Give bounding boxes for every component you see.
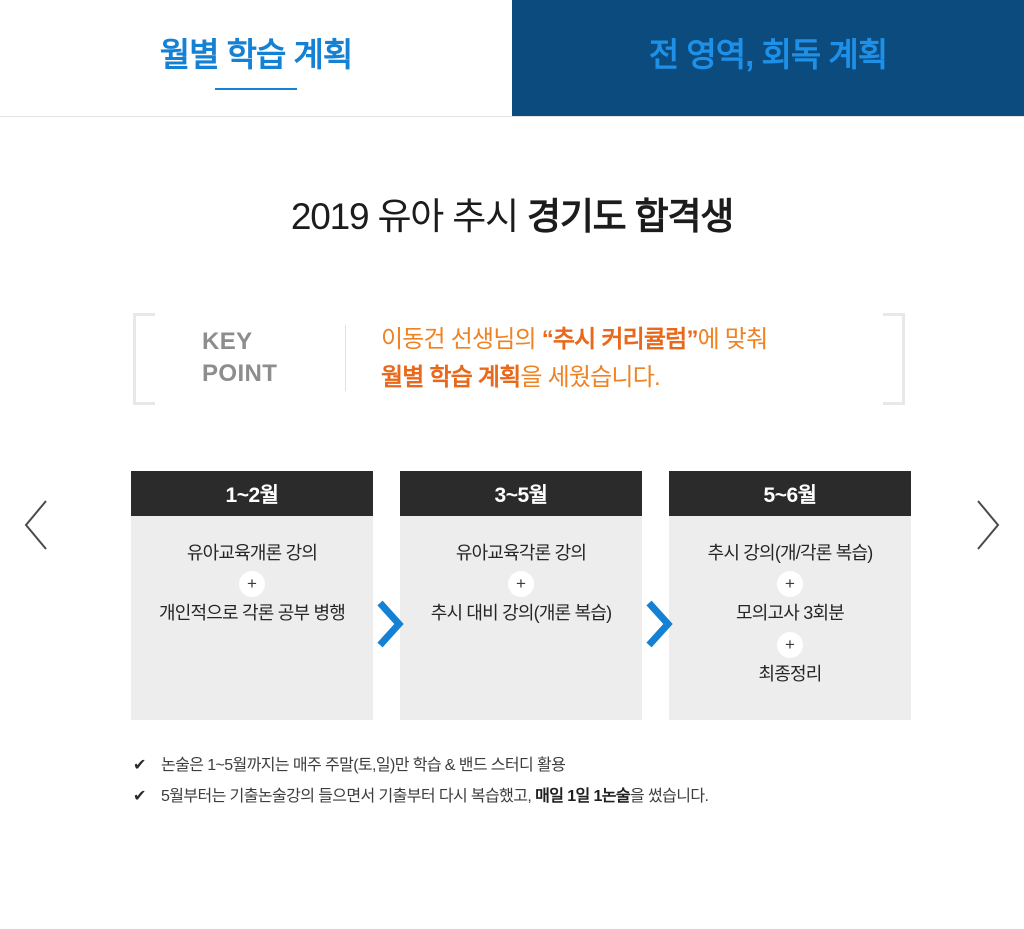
key-point-block: KEY POINT 이동건 선생님의 “추시 커리큘럼”에 맞춰 월별 학습 계… bbox=[133, 313, 905, 405]
plan-card-3[interactable]: 5~6월 추시 강의(개/각론 복습) + 모의고사 3회분 + 최종정리 bbox=[669, 471, 911, 720]
chevron-right-blue-icon bbox=[374, 599, 404, 649]
step-arrow-2 bbox=[643, 599, 673, 649]
key-point-label: KEY POINT bbox=[202, 326, 322, 390]
plan-card-3-period: 5~6월 bbox=[669, 471, 911, 516]
plan-card-3-line-2: 모의고사 3회분 bbox=[736, 602, 844, 625]
tab-monthly-plan-label: 월별 학습 계획 bbox=[160, 38, 353, 71]
chevron-right-blue-icon bbox=[643, 599, 673, 649]
footnote-1-text-a: 논술은 1~5월까지는 매주 주말(토,일)만 학습 & 밴드 스터디 활용 bbox=[161, 757, 565, 774]
plus-icon: + bbox=[777, 571, 803, 597]
tab-bar: 월별 학습 계획 전 영역, 회독 계획 bbox=[0, 0, 1024, 117]
key-point-line1-a: 이동건 선생님의 bbox=[381, 326, 542, 353]
plan-card-1-line-1: 유아교육개론 강의 bbox=[187, 542, 317, 565]
key-point-label-line1: KEY bbox=[202, 326, 322, 358]
page-title-bold: 경기도 합격생 bbox=[527, 196, 733, 237]
tab-full-review-plan[interactable]: 전 영역, 회독 계획 bbox=[512, 0, 1024, 116]
carousel-next-button[interactable] bbox=[970, 495, 1004, 555]
footnote-list: ✔ 논술은 1~5월까지는 매주 주말(토,일)만 학습 & 밴드 스터디 활용… bbox=[133, 755, 933, 816]
plus-icon: + bbox=[239, 571, 265, 597]
plan-card-2[interactable]: 3~5월 유아교육각론 강의 + 추시 대비 강의(개론 복습) bbox=[400, 471, 642, 720]
plan-card-1-line-2: 개인적으로 각론 공부 병행 bbox=[159, 602, 345, 625]
key-point-line2-b: 을 세웠습니다. bbox=[520, 364, 659, 391]
tab-monthly-plan[interactable]: 월별 학습 계획 bbox=[0, 0, 512, 116]
check-icon: ✔ bbox=[133, 786, 161, 808]
plus-icon: + bbox=[777, 632, 803, 658]
key-point-text-line2: 월별 학습 계획을 세웠습니다. bbox=[381, 359, 881, 397]
plan-card-3-line-3: 최종정리 bbox=[758, 663, 821, 686]
key-point-text: 이동건 선생님의 “추시 커리큘럼”에 맞춰 월별 학습 계획을 세웠습니다. bbox=[381, 321, 881, 397]
plan-card-1-body: 유아교육개론 강의 + 개인적으로 각론 공부 병행 bbox=[131, 516, 373, 720]
bracket-left-decoration bbox=[133, 313, 155, 405]
key-point-divider bbox=[345, 325, 346, 391]
tab-full-review-plan-label: 전 영역, 회독 계획 bbox=[649, 38, 887, 71]
footnote-2-text-b: 을 썼습니다. bbox=[630, 788, 708, 805]
plan-card-1[interactable]: 1~2월 유아교육개론 강의 + 개인적으로 각론 공부 병행 bbox=[131, 471, 373, 720]
plan-card-1-period: 1~2월 bbox=[131, 471, 373, 516]
chevron-left-icon bbox=[20, 495, 54, 555]
step-arrow-1 bbox=[374, 599, 404, 649]
page-title: 2019 유아 추시 경기도 합격생 bbox=[0, 186, 1024, 240]
plan-card-2-body: 유아교육각론 강의 + 추시 대비 강의(개론 복습) bbox=[400, 516, 642, 720]
footnote-1-text: 논술은 1~5월까지는 매주 주말(토,일)만 학습 & 밴드 스터디 활용 bbox=[161, 755, 565, 777]
plan-card-2-line-1: 유아교육각론 강의 bbox=[456, 542, 586, 565]
plan-card-2-line-2: 추시 대비 강의(개론 복습) bbox=[431, 602, 612, 625]
page-title-light: 2019 유아 추시 bbox=[291, 196, 527, 237]
key-point-line2-highlight: 월별 학습 계획 bbox=[381, 364, 520, 391]
bracket-right-decoration bbox=[883, 313, 905, 405]
plan-card-3-line-1: 추시 강의(개/각론 복습) bbox=[708, 542, 873, 565]
page-root: 월별 학습 계획 전 영역, 회독 계획 2019 유아 추시 경기도 합격생 … bbox=[0, 0, 1024, 929]
study-plan-cards: 1~2월 유아교육개론 강의 + 개인적으로 각론 공부 병행 3~5월 유아교… bbox=[131, 471, 911, 721]
key-point-text-line1: 이동건 선생님의 “추시 커리큘럼”에 맞춰 bbox=[381, 321, 881, 359]
footnote-item: ✔ 5월부터는 기출논술강의 들으면서 기출부터 다시 복습했고, 매일 1일 … bbox=[133, 786, 933, 808]
footnote-2-text: 5월부터는 기출논술강의 들으면서 기출부터 다시 복습했고, 매일 1일 1논… bbox=[161, 786, 708, 808]
key-point-line1-c: 에 맞춰 bbox=[698, 326, 768, 353]
footnote-2-highlight: 매일 1일 1논술 bbox=[535, 788, 630, 805]
plan-card-2-period: 3~5월 bbox=[400, 471, 642, 516]
carousel-prev-button[interactable] bbox=[20, 495, 54, 555]
footnote-2-text-a: 5월부터는 기출논술강의 들으면서 기출부터 다시 복습했고, bbox=[161, 788, 535, 805]
plan-card-3-body: 추시 강의(개/각론 복습) + 모의고사 3회분 + 최종정리 bbox=[669, 516, 911, 720]
chevron-right-icon bbox=[970, 495, 1004, 555]
active-tab-underline bbox=[215, 88, 297, 90]
key-point-label-line2: POINT bbox=[202, 358, 322, 390]
plus-icon: + bbox=[508, 571, 534, 597]
check-icon: ✔ bbox=[133, 755, 161, 777]
footnote-item: ✔ 논술은 1~5월까지는 매주 주말(토,일)만 학습 & 밴드 스터디 활용 bbox=[133, 755, 933, 777]
key-point-line1-highlight: “추시 커리큘럼” bbox=[542, 326, 698, 353]
